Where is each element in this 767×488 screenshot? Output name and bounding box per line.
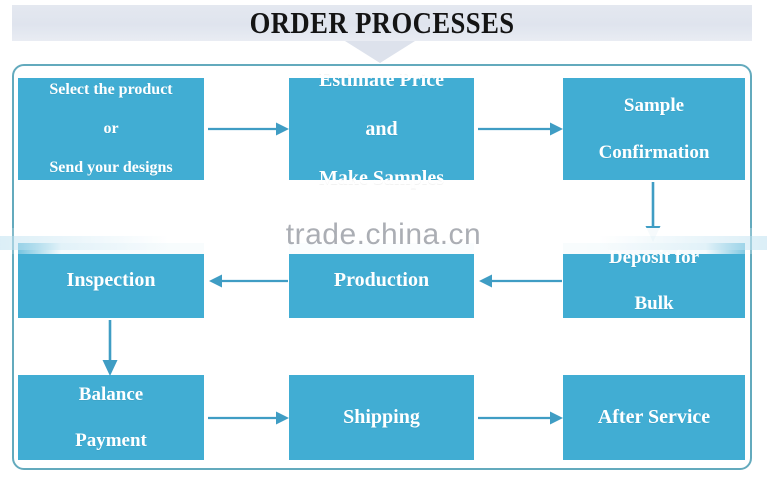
flow-node-after-service[interactable]: After Service — [563, 375, 745, 460]
title-band: ORDER PROCESSES — [12, 5, 752, 41]
page-title: ORDER PROCESSES — [250, 5, 515, 41]
flow-node-sample-confirmation[interactable]: Sample Confirmation — [563, 78, 745, 180]
flow-node-inspection-label: Inspection — [22, 268, 200, 292]
flow-node-select-line1: Select the product — [22, 80, 200, 100]
flow-node-estimate-price[interactable]: Estimate Price and Make Samples — [289, 78, 474, 180]
flow-node-after-label: After Service — [567, 405, 741, 429]
arrow-sample-to-deposit-icon — [640, 181, 666, 243]
arrow-inspection-to-balance-icon — [97, 319, 123, 377]
flow-node-shipping[interactable]: Shipping — [289, 375, 474, 460]
flow-node-inspection[interactable]: Inspection — [18, 243, 204, 318]
flow-node-sample-line2: Confirmation — [567, 141, 741, 164]
arrow-deposit-to-production-icon — [476, 270, 564, 292]
flow-node-deposit-line2: Bulk — [567, 292, 741, 315]
arrow-production-to-inspection-icon — [206, 270, 290, 292]
title-down-arrow-icon — [345, 41, 415, 63]
flow-node-select-product[interactable]: Select the product or Send your designs — [18, 78, 204, 180]
arrow-select-to-estimate-icon — [206, 118, 290, 140]
flow-node-deposit-for-bulk[interactable]: Deposit for Bulk — [563, 243, 745, 318]
arrow-estimate-to-sample-icon — [476, 118, 564, 140]
flow-node-shipping-label: Shipping — [293, 405, 470, 429]
flow-node-sample-line1: Sample — [567, 94, 741, 117]
flow-node-estimate-line2: and — [293, 117, 470, 141]
flow-node-balance-payment[interactable]: Balance Payment — [18, 375, 204, 460]
flow-node-production-label: Production — [293, 268, 470, 292]
flow-node-balance-line2: Payment — [22, 429, 200, 452]
arrow-balance-to-shipping-icon — [206, 407, 290, 429]
flow-node-select-line3: Send your designs — [22, 158, 200, 178]
flow-node-balance-line1: Balance — [22, 383, 200, 406]
arrow-shipping-to-after-service-icon — [476, 407, 564, 429]
flow-node-production[interactable]: Production — [289, 243, 474, 318]
flow-node-estimate-line1: Estimate Price — [293, 68, 470, 92]
flow-node-deposit-line1: Deposit for — [567, 246, 741, 269]
flow-node-select-line2: or — [22, 119, 200, 139]
flow-node-estimate-line3: Make Samples — [293, 166, 470, 190]
